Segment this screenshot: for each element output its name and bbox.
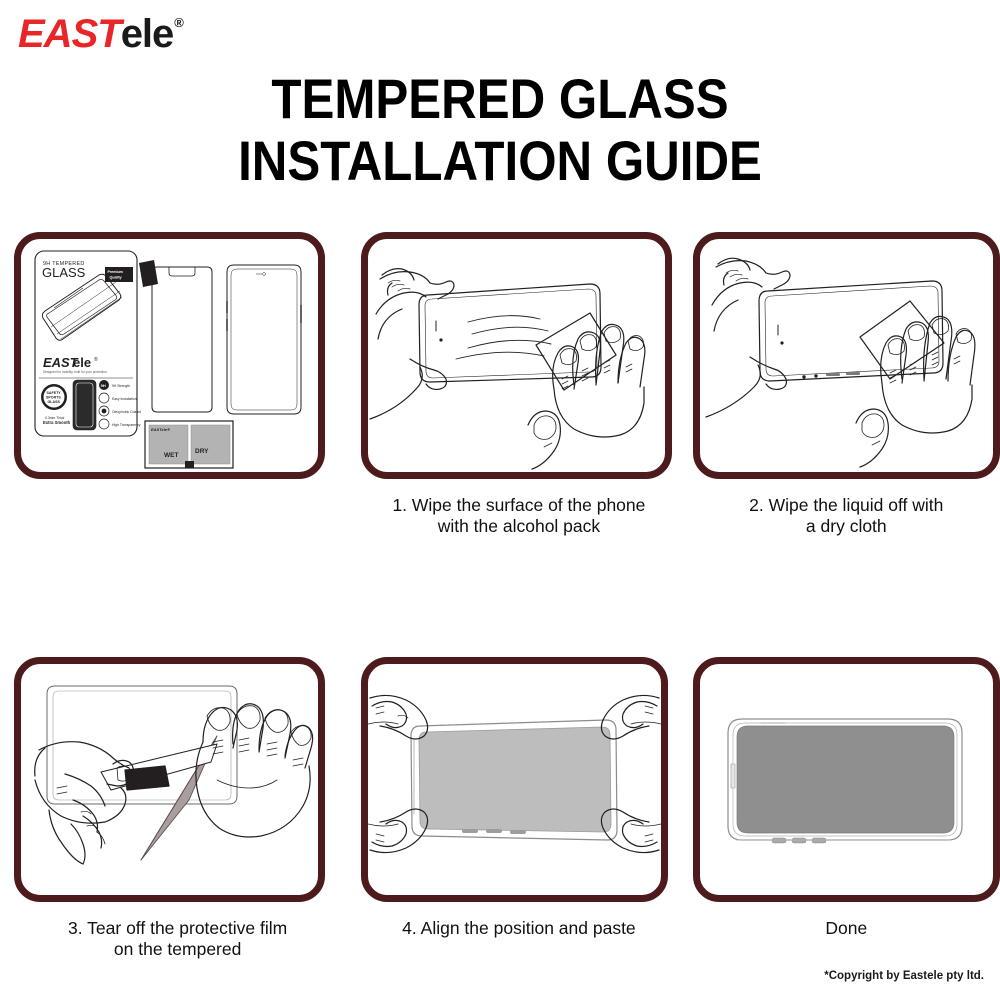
steps-row-bottom: 3. Tear off the protective film on the t… (0, 657, 1000, 960)
steps-row-top: 9H TEMPERED GLASS Premium Quality EAST e (0, 232, 1000, 537)
panel-tear-film (14, 657, 325, 902)
svg-text:9H Strength: 9H Strength (112, 384, 130, 388)
svg-text:EASTele®: EASTele® (151, 427, 170, 432)
svg-text:WET: WET (164, 452, 178, 459)
panel-done (693, 657, 1000, 902)
svg-text:High Transparency: High Transparency (112, 423, 141, 427)
svg-text:®: ® (94, 356, 98, 363)
align-paste-illustration (368, 664, 661, 895)
wipe-alcohol-illustration (368, 239, 665, 472)
caption-done: Done (693, 902, 1000, 939)
logo-text-east: EAST (18, 14, 121, 54)
step-cell-wipe-dry: 2. Wipe the liquid off with a dry cloth (693, 232, 1000, 537)
svg-text:GLASS: GLASS (48, 400, 61, 404)
svg-text:Extra Smooth: Extra Smooth (43, 420, 71, 425)
svg-text:GLASS: GLASS (42, 265, 86, 280)
svg-text:ele: ele (73, 355, 91, 370)
svg-text:SPORTS: SPORTS (46, 396, 61, 400)
panel-align-paste (361, 657, 668, 902)
title-line-2: INSTALLATION GUIDE (60, 130, 940, 192)
tear-film-illustration (21, 664, 318, 895)
caption-step-2: 2. Wipe the liquid off with a dry cloth (693, 479, 1000, 537)
brand-logo: EAST ele ® (18, 14, 184, 54)
svg-text:Oleophobic Coated: Oleophobic Coated (112, 410, 141, 414)
step-cell-align-paste: 4. Align the position and paste (361, 657, 676, 939)
package-contents-illustration: 9H TEMPERED GLASS Premium Quality EAST e (21, 239, 318, 472)
step-cell-package: 9H TEMPERED GLASS Premium Quality EAST e (14, 232, 341, 479)
wipe-dry-illustration (700, 239, 993, 472)
svg-text:Designed for mobility, built f: Designed for mobility, built for your pr… (43, 370, 107, 374)
copyright-notice: *Copyright by Eastele pty ltd. (824, 970, 984, 982)
done-illustration (700, 664, 993, 895)
caption-step-1: 1. Wipe the surface of the phone with th… (361, 479, 676, 537)
panel-wipe-dry (693, 232, 1000, 479)
page-title: TEMPERED GLASS INSTALLATION GUIDE (0, 68, 1000, 192)
panel-package: 9H TEMPERED GLASS Premium Quality EAST e (14, 232, 325, 479)
registered-trademark-icon: ® (174, 16, 184, 29)
step-cell-tear-film: 3. Tear off the protective film on the t… (14, 657, 341, 960)
panel-wipe-alcohol (361, 232, 672, 479)
svg-text:Quality: Quality (110, 276, 122, 280)
steps-grid: 9H TEMPERED GLASS Premium Quality EAST e (0, 232, 1000, 960)
logo-text-ele: ele (121, 14, 174, 54)
svg-text:SAFETY: SAFETY (47, 391, 62, 395)
svg-text:Easy Installation: Easy Installation (112, 397, 137, 401)
svg-text:Premium: Premium (108, 270, 123, 274)
caption-step-3: 3. Tear off the protective film on the t… (14, 902, 341, 960)
svg-text:DRY: DRY (195, 448, 209, 455)
step-cell-wipe-alcohol: 1. Wipe the surface of the phone with th… (361, 232, 676, 537)
svg-text:9H: 9H (101, 383, 106, 388)
title-line-1: TEMPERED GLASS (60, 68, 940, 130)
step-cell-done: Done (693, 657, 1000, 939)
caption-step-4: 4. Align the position and paste (361, 902, 676, 939)
